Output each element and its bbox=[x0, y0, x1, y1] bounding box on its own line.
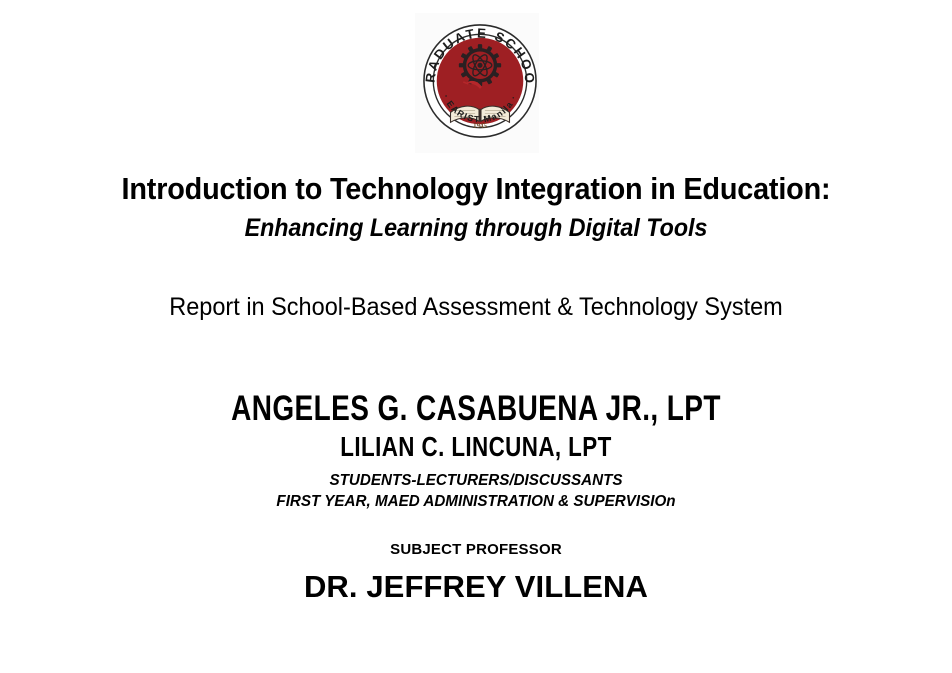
presenters-block: ANGELES G. CASABUENA JR., LPT LILIAN C. … bbox=[0, 390, 952, 512]
subject-professor-label: SUBJECT PROFESSOR bbox=[0, 540, 952, 560]
presenter-name-secondary: LILIAN C. LINCUNA, LPT bbox=[95, 431, 857, 462]
page-title: Introduction to Technology Integration i… bbox=[33, 172, 918, 207]
graduate-school-seal-logo: 1945 GRADUATE SCHOOL · EARIST Manila · bbox=[415, 13, 539, 153]
page-subtitle: Enhancing Learning through Digital Tools bbox=[33, 213, 918, 244]
presentation-title-slide: 1945 GRADUATE SCHOOL · EARIST Manila · I… bbox=[0, 0, 952, 673]
professor-block: SUBJECT PROFESSOR DR. JEFFREY VILLENA bbox=[0, 540, 952, 605]
presenter-role: STUDENTS-LECTURERS/DISCUSSANTS bbox=[24, 471, 928, 491]
subject-professor-name: DR. JEFFREY VILLENA bbox=[0, 568, 952, 605]
title-block: Introduction to Technology Integration i… bbox=[0, 172, 952, 244]
presenter-name-primary: ANGELES G. CASABUENA JR., LPT bbox=[95, 390, 857, 428]
report-subject-line: Report in School-Based Assessment & Tech… bbox=[29, 293, 924, 322]
seal-graphic: 1945 GRADUATE SCHOOL · EARIST Manila · bbox=[421, 15, 539, 147]
presenter-program: FIRST YEAR, MAED ADMINISTRATION & SUPERV… bbox=[24, 492, 928, 512]
